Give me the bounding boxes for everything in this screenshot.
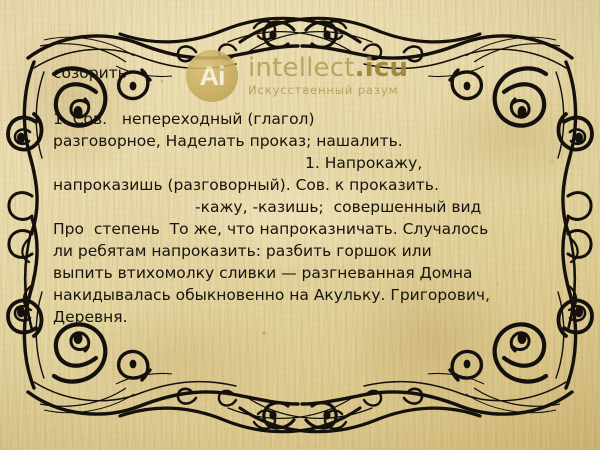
ai-logo-icon: Ai [186,50,238,102]
bottom-center-swash [240,398,480,432]
entry-line: напроказишь (разговорный). Сов. к проказ… [53,174,553,196]
ai-logo-text: Ai [200,63,225,90]
entry-line: Про степень То же, что напроказничать. С… [53,218,553,240]
right-side-rail [568,232,578,330]
entry-line: выпить втихомолку сливки — разгневанная … [53,262,553,284]
intellect-icu-watermark: Ai intellect.icu Искусственный разум [186,50,408,102]
entry-line: 1. Напрокажу, [53,152,553,174]
entry-line: ли ребятам напроказить: разбить горшок и… [53,240,553,262]
entry-line: Деревня. [53,306,553,328]
watermark-wordmark: intellect.icu Искусственный разум [248,55,408,98]
entry-line: разговорное, Наделать проказ; нашалить. [53,130,553,152]
watermark-tagline: Искусственный разум [248,83,408,97]
entry-headword: созорить [53,66,127,82]
watermark-brand-suffix: .icu [355,53,409,83]
entry-article-text: 1. Сов. непереходный (глагол)разговорное… [53,108,553,328]
entry-line: 1. Сов. непереходный (глагол) [53,108,553,130]
watermark-brand-primary: intellect [248,53,355,83]
entry-line: накидывалась обыкновенно на Акульку. Гри… [53,284,553,306]
watermark-brand: intellect.icu [248,55,408,82]
top-center-swash [240,18,480,52]
entry-line: -кажу, -казишь; совершенный вид [53,196,553,218]
bottom-center-swash-mirror [120,398,360,432]
top-center-swash-mirror [120,18,360,52]
parchment-page: Ai intellect.icu Искусственный разум соз… [0,0,600,450]
left-side-rail [22,232,32,330]
